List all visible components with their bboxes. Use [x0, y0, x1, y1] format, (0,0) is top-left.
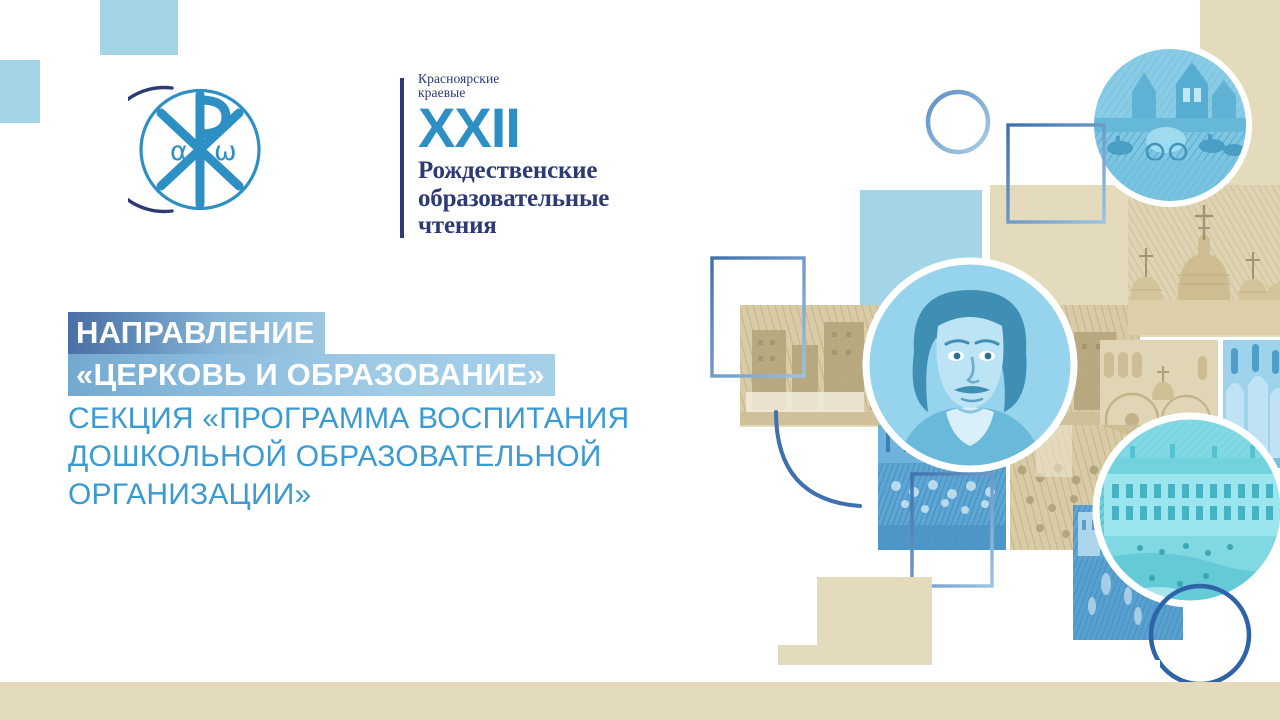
logo-roman-numeral: XXII: [418, 102, 718, 154]
collage-graphics: [700, 0, 1280, 682]
headline-line-5: ОРГАНИЗАЦИИ»: [68, 476, 758, 514]
decorative-square-top: [100, 0, 178, 55]
headline-block: НАПРАВЛЕНИЕ «ЦЕРКОВЬ И ОБРАЗОВАНИЕ» СЕКЦ…: [68, 312, 758, 514]
headline-line-2-row: «ЦЕРКОВЬ И ОБРАЗОВАНИЕ»: [68, 354, 758, 396]
presentation-slide: α ω Красноярские краевые XXII Рождествен…: [0, 0, 1280, 720]
peter-the-great-portrait: [863, 258, 1077, 472]
palace-engraving: [1093, 413, 1280, 607]
event-logo: α ω Красноярские краевые XXII Рождествен…: [128, 72, 578, 252]
historic-procession-engraving: [1088, 43, 1252, 207]
headline-line-4: ДОШКОЛЬНОЙ ОБРАЗОВАТЕЛЬНОЙ: [68, 438, 758, 476]
church-domes-photo: [1128, 185, 1280, 335]
logo-divider: [400, 78, 404, 238]
chi-rho-emblem-icon: α ω: [128, 72, 268, 227]
headline-line-1-row: НАПРАВЛЕНИЕ: [68, 312, 758, 354]
svg-text:α: α: [170, 136, 188, 167]
footer-strip: [0, 682, 1280, 720]
headline-line-2: «ЦЕРКОВЬ И ОБРАЗОВАНИЕ»: [68, 354, 555, 396]
image-collage: [700, 0, 1280, 682]
outline-circle-top: [928, 92, 988, 152]
headline-line-1: НАПРАВЛЕНИЕ: [68, 312, 325, 354]
headline-subtitle: СЕКЦИЯ «ПРОГРАММА ВОСПИТАНИЯ ДОШКОЛЬНОЙ …: [68, 400, 758, 514]
logo-text-block: Красноярские краевые XXII Рождественские…: [418, 72, 718, 240]
headline-line-3: СЕКЦИЯ «ПРОГРАММА ВОСПИТАНИЯ: [68, 400, 758, 438]
decorative-square-left: [0, 60, 40, 123]
svg-text:ω: ω: [214, 136, 237, 167]
beige-step-lower: [778, 645, 932, 665]
logo-event-name: Рождественские образовательные чтения: [418, 157, 718, 240]
